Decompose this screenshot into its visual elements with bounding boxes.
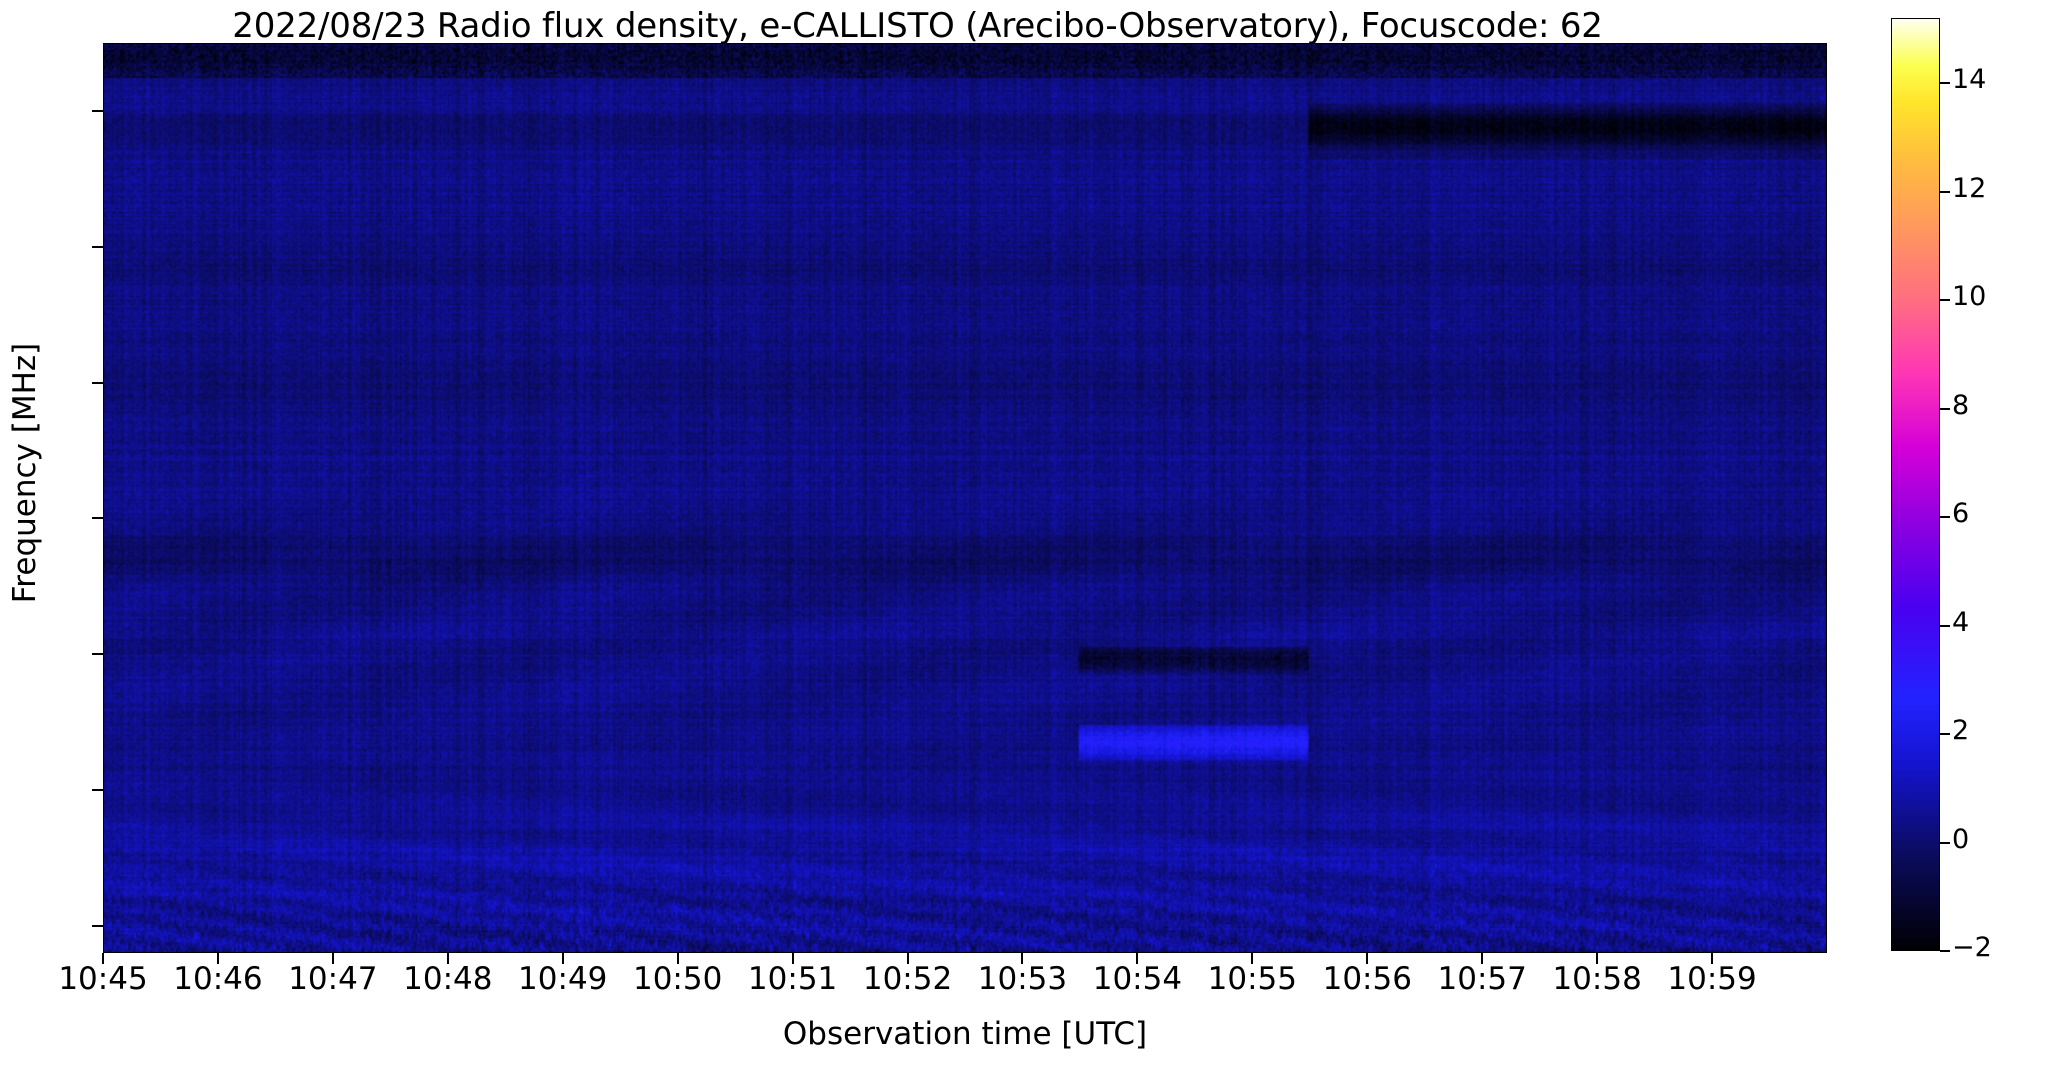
colorbar-tick-mark	[1940, 950, 1950, 952]
colorbar-tick-label: 14	[1952, 64, 2042, 95]
colorbar-tick-mark	[1940, 299, 1950, 301]
x-axis-tick-mark	[217, 953, 219, 964]
x-axis-tick-mark	[562, 953, 564, 964]
spectrogram-figure: 2022/08/23 Radio flux density, e-CALLIST…	[0, 0, 2047, 1067]
colorbar[interactable]	[1891, 18, 1940, 951]
x-axis-tick-mark	[907, 953, 909, 964]
x-axis-tick-mark	[1366, 953, 1368, 964]
spectrogram-heatmap	[104, 44, 1826, 952]
y-axis-tick-mark	[92, 246, 103, 248]
colorbar-tick-label: 10	[1952, 281, 2042, 312]
colorbar-tick-label: 0	[1952, 824, 2042, 855]
colorbar-tick-mark	[1940, 516, 1950, 518]
plot-axes[interactable]	[103, 43, 1827, 953]
x-axis-tick-mark	[1481, 953, 1483, 964]
x-axis-tick-mark	[332, 953, 334, 964]
x-axis-tick-mark	[792, 953, 794, 964]
colorbar-tick-label: 4	[1952, 607, 2042, 638]
colorbar-tick-label: −2	[1952, 932, 2042, 963]
x-axis-tick-mark	[1711, 953, 1713, 964]
colorbar-tick-mark	[1940, 733, 1950, 735]
colorbar-gradient	[1892, 19, 1939, 950]
x-axis-tick-mark	[447, 953, 449, 964]
colorbar-tick-mark	[1940, 82, 1950, 84]
x-axis-label: Observation time [UTC]	[103, 1016, 1827, 1052]
y-axis-tick-mark	[92, 925, 103, 927]
colorbar-tick-label: 2	[1952, 715, 2042, 746]
colorbar-tick-mark	[1940, 191, 1950, 193]
colorbar-tick-mark	[1940, 842, 1950, 844]
y-axis-tick-mark	[92, 789, 103, 791]
page-title: 2022/08/23 Radio flux density, e-CALLIST…	[0, 6, 1835, 46]
colorbar-tick-label: 8	[1952, 390, 2042, 421]
y-axis-tick-mark	[92, 517, 103, 519]
y-axis-tick-mark	[92, 110, 103, 112]
colorbar-tick-label: 12	[1952, 173, 2042, 204]
colorbar-tick-label: 6	[1952, 498, 2042, 529]
x-axis-tick-mark	[1136, 953, 1138, 964]
x-axis-tick-mark	[1251, 953, 1253, 964]
x-axis-tick-mark	[677, 953, 679, 964]
y-axis-tick-mark	[92, 382, 103, 384]
y-axis-label: Frequency [MHz]	[7, 18, 43, 928]
x-axis-tick-mark	[102, 953, 104, 964]
colorbar-tick-mark	[1940, 625, 1950, 627]
x-axis-tick-mark	[1596, 953, 1598, 964]
colorbar-tick-mark	[1940, 408, 1950, 410]
x-axis-tick-mark	[1021, 953, 1023, 964]
x-axis-tick-label: 10:59	[1632, 961, 1792, 997]
y-axis-tick-mark	[92, 653, 103, 655]
